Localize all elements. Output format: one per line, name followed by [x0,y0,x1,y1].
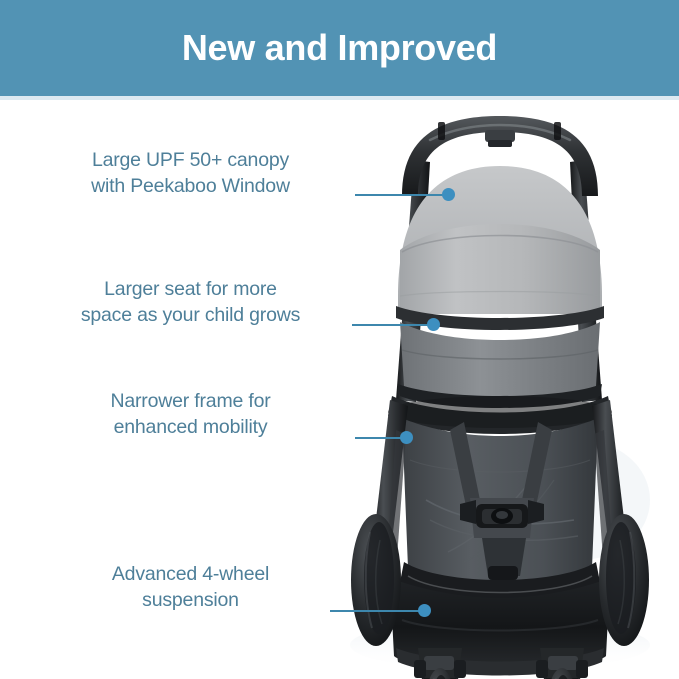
callout-canopy-line2: with Peekaboo Window [38,174,343,200]
page-title: New and Improved [182,30,497,66]
leader-rule [330,610,424,612]
leader-line-seat [352,318,444,332]
leader-line-frame [355,431,415,445]
leader-line-suspension [330,604,434,618]
callout-seat-line1: Larger seat for more [38,277,343,303]
product-image-stroller [330,100,679,679]
leader-rule [355,437,405,439]
leader-dot [400,431,413,444]
callout-canopy-line1: Large UPF 50+ canopy [38,148,343,174]
leader-rule [352,324,432,326]
leader-rule [355,194,447,196]
leader-dot [418,604,431,617]
leader-line-canopy [355,188,455,202]
callout-seat-line2: space as your child grows [38,303,343,329]
callout-frame-line1: Narrower frame for [38,389,343,415]
callout-suspension: Advanced 4-wheel suspension [38,562,343,613]
callout-frame: Narrower frame for enhanced mobility [38,389,343,440]
callout-suspension-line1: Advanced 4-wheel [38,562,343,588]
callout-frame-line2: enhanced mobility [38,415,343,441]
callout-seat: Larger seat for more space as your child… [38,277,343,328]
leader-dot [442,188,455,201]
callout-suspension-line2: suspension [38,588,343,614]
leader-dot [427,318,440,331]
callout-canopy: Large UPF 50+ canopy with Peekaboo Windo… [38,148,343,199]
infographic-page: New and Improved [0,0,679,679]
header-banner: New and Improved [0,0,679,96]
